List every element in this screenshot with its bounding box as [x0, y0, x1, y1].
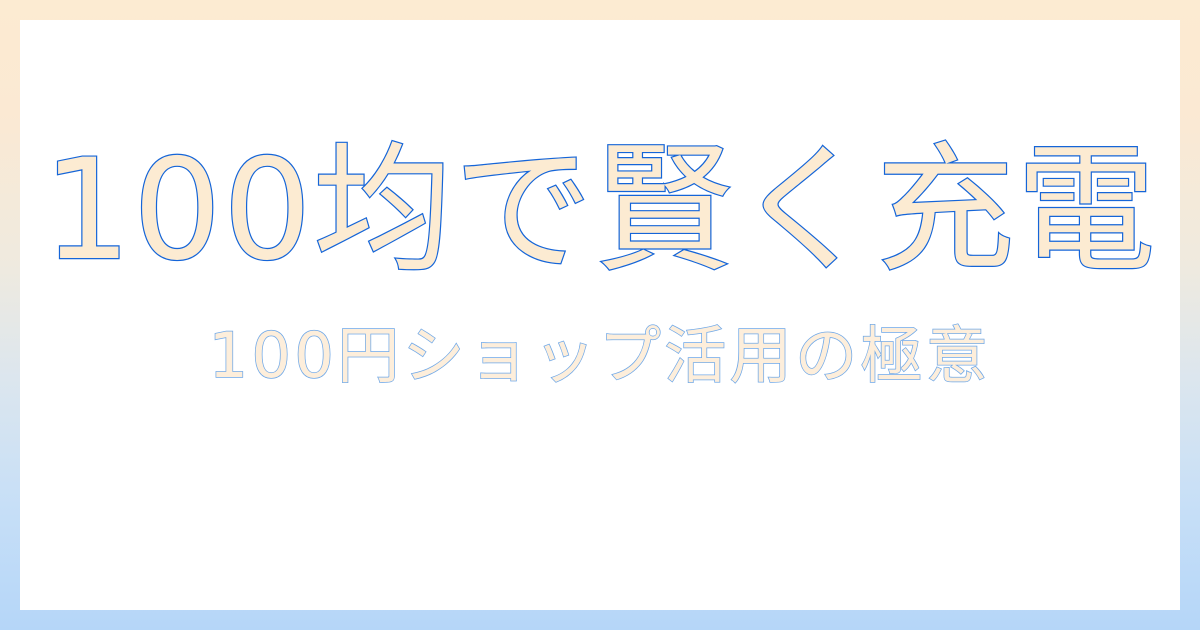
title-card: 100均で賢く充電 100円ショップ活用の極意 [0, 0, 1200, 630]
page-title: 100均で賢く充電 [43, 138, 1157, 284]
page-subtitle: 100円ショップ活用の極意 [209, 322, 992, 390]
text-block: 100均で賢く充電 100円ショップ活用の極意 [20, 138, 1180, 390]
card-canvas: 100均で賢く充電 100円ショップ活用の極意 [20, 20, 1180, 610]
